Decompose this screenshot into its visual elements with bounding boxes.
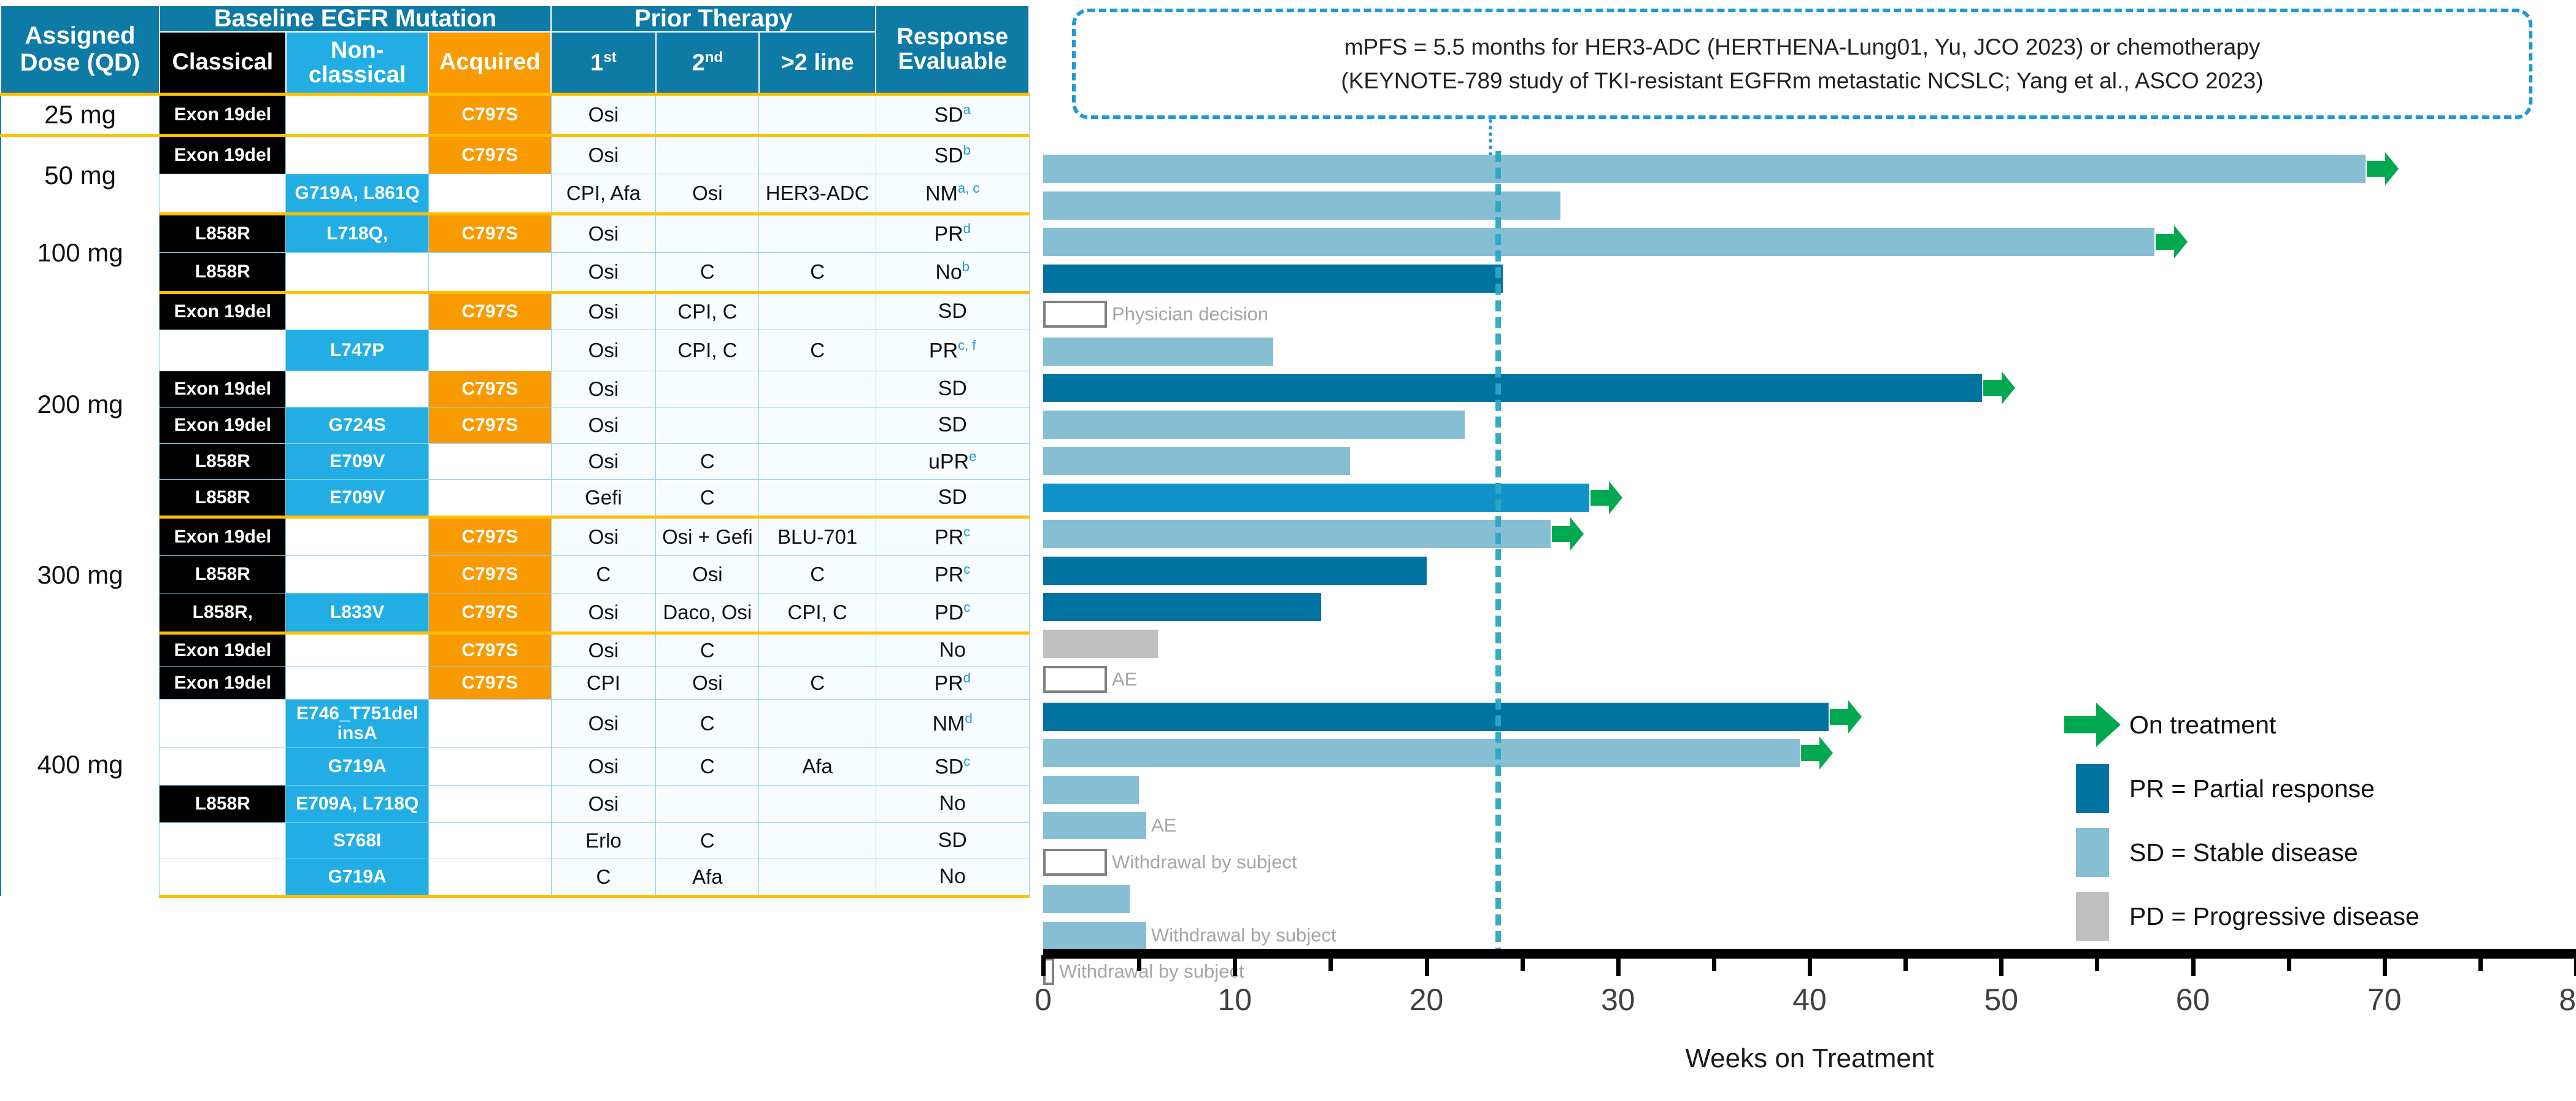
- discontinuation-annotation: Withdrawal by subject: [1043, 849, 1297, 876]
- sd-swatch: [2056, 828, 2129, 877]
- cell-classical: [160, 330, 286, 371]
- treatment-duration-bar: [1043, 447, 1350, 475]
- cell-classical: L858R: [160, 555, 286, 593]
- cell-first-line: Osi: [551, 748, 656, 785]
- swimmer-plot: mPFS = 5.5 months for HER3-ADC (HERTHENA…: [1006, 0, 2576, 1101]
- cell-more-lines: [759, 479, 876, 517]
- cell-acquired: [428, 699, 551, 748]
- x-axis-tick-label: 70: [2367, 982, 2402, 1018]
- pr-swatch: [2056, 764, 2129, 813]
- x-axis-tick-label: 60: [2176, 982, 2210, 1018]
- table-row: 50 mgExon 19delC797SOsiSDb: [1, 135, 1029, 174]
- legend-label: PD = Progressive disease: [2129, 902, 2420, 931]
- cell-second-line: [656, 785, 759, 822]
- cell-second-line: Osi: [656, 555, 759, 593]
- cell-acquired: C797S: [428, 214, 551, 252]
- x-axis-tick-label: 20: [1409, 982, 1444, 1018]
- treatment-duration-bar: [1043, 593, 1321, 621]
- cell-nonclassical: E709A, L718Q: [286, 785, 428, 822]
- cell-acquired: [428, 443, 551, 479]
- legend-label: On treatment: [2129, 711, 2276, 740]
- on-treatment-arrow-icon: [2156, 225, 2188, 258]
- cell-first-line: Gefi: [551, 479, 656, 517]
- cell-nonclassical: [286, 252, 428, 292]
- cell-acquired: C797S: [428, 371, 551, 407]
- on-treatment-arrow-icon: [1552, 517, 1584, 550]
- cell-more-lines: Afa: [759, 748, 876, 785]
- header-second-line: 2nd: [656, 32, 759, 95]
- cell-more-lines: [759, 407, 876, 443]
- cell-second-line: C: [656, 252, 759, 292]
- header-classical: Classical: [160, 32, 286, 95]
- cell-nonclassical: L833V: [286, 593, 428, 633]
- discontinuation-annotation: Withdrawal by subject: [1043, 922, 1336, 949]
- cell-nonclassical: G719A, L861Q: [286, 174, 428, 214]
- cell-nonclassical: E746_T751delinsA: [286, 699, 428, 748]
- cell-more-lines: [759, 214, 876, 252]
- x-axis-minor-tick: [2287, 955, 2291, 971]
- cell-more-lines: CPI, C: [759, 593, 876, 633]
- cell-more-lines: [759, 785, 876, 822]
- x-axis-tick: [1999, 955, 2003, 976]
- cell-acquired: C797S: [428, 555, 551, 593]
- cell-second-line: Osi: [656, 174, 759, 214]
- cell-first-line: Osi: [551, 94, 656, 135]
- x-axis-tick: [1041, 955, 1046, 976]
- x-axis-tick-label: 10: [1217, 982, 1252, 1018]
- cell-nonclassical: [286, 666, 428, 699]
- x-axis-minor-tick: [1137, 955, 1141, 971]
- table-row: 25 mgExon 19delC797SOsiSDa: [1, 94, 1029, 135]
- cell-second-line: [656, 135, 759, 174]
- cell-second-line: C: [656, 479, 759, 517]
- cell-acquired: C797S: [428, 593, 551, 633]
- cell-first-line: Erlo: [551, 822, 656, 859]
- cell-second-line: [656, 214, 759, 252]
- cell-first-line: Osi: [551, 443, 656, 479]
- cell-nonclassical: [286, 292, 428, 330]
- header-first-line: 1st: [551, 32, 656, 95]
- cell-second-line: CPI, C: [656, 292, 759, 330]
- dose-label: 400 mg: [1, 633, 160, 896]
- x-axis-tick: [2383, 955, 2387, 976]
- on-treatment-arrow-icon: [1801, 736, 1833, 770]
- dose-label: 300 mg: [1, 517, 160, 633]
- cell-acquired: C797S: [428, 633, 551, 666]
- cell-acquired: C797S: [428, 407, 551, 443]
- cell-second-line: Osi: [656, 666, 759, 699]
- cell-more-lines: [759, 443, 876, 479]
- cell-more-lines: [759, 94, 876, 135]
- x-axis-tick: [1808, 955, 1812, 976]
- mpfs-reference-line: [1495, 151, 1501, 959]
- cell-first-line: C: [551, 859, 656, 896]
- treatment-duration-bar: [1043, 265, 1503, 293]
- table-row: 100 mgL858RL718Q,C797SOsiPRd: [1, 214, 1029, 252]
- cell-first-line: Osi: [551, 785, 656, 822]
- table-row: 400 mgExon 19delC797SOsiCNo: [1, 633, 1029, 666]
- cell-classical: L858R: [160, 214, 286, 252]
- cell-acquired: C797S: [428, 135, 551, 174]
- swimmer-table: AssignedDose (QD)Baseline EGFR MutationP…: [0, 5, 1030, 898]
- cell-classical: [160, 859, 286, 896]
- cell-first-line: Osi: [551, 135, 656, 174]
- legend-item: PR = Partial response: [2056, 763, 2559, 814]
- cell-classical: [160, 699, 286, 748]
- annotation-swatch: [1043, 666, 1107, 693]
- cell-second-line: C: [656, 748, 759, 785]
- cell-acquired: [428, 822, 551, 859]
- cell-more-lines: [759, 292, 876, 330]
- legend-label: SD = Stable disease: [2129, 838, 2358, 867]
- x-axis-minor-tick: [1328, 955, 1333, 971]
- cell-nonclassical: L747P: [286, 330, 428, 371]
- cell-acquired: C797S: [428, 666, 551, 699]
- treatment-duration-bar: [1043, 155, 2366, 183]
- cell-classical: Exon 19del: [160, 94, 286, 135]
- cell-more-lines: C: [759, 555, 876, 593]
- x-axis-tick-label: 80: [2559, 982, 2576, 1018]
- cell-first-line: Osi: [551, 292, 656, 330]
- legend-item: PD = Progressive disease: [2056, 891, 2559, 941]
- cell-more-lines: [759, 822, 876, 859]
- on-treatment-arrow-icon: [1830, 700, 1862, 733]
- treatment-duration-bar: [1043, 776, 1139, 804]
- cell-first-line: Osi: [551, 214, 656, 252]
- treatment-duration-bar: [1043, 338, 1273, 366]
- header-more-lines: >2 line: [759, 32, 876, 95]
- x-axis-label: Weeks on Treatment: [1043, 1043, 2576, 1074]
- cell-nonclassical: [286, 371, 428, 407]
- cell-classical: L858R: [160, 785, 286, 822]
- cell-second-line: CPI, C: [656, 330, 759, 371]
- cell-acquired: C797S: [428, 94, 551, 135]
- annotation-swatch: [1043, 922, 1146, 949]
- cell-classical: Exon 19del: [160, 633, 286, 666]
- cell-classical: L858R: [160, 443, 286, 479]
- cell-nonclassical: G719A: [286, 859, 428, 896]
- legend-item: On treatment: [2056, 700, 2559, 750]
- legend-item: SD = Stable disease: [2056, 827, 2559, 878]
- cell-second-line: C: [656, 822, 759, 859]
- cell-more-lines: [759, 859, 876, 896]
- cell-more-lines: [759, 633, 876, 666]
- x-axis-tick: [2191, 955, 2196, 976]
- cell-classical: Exon 19del: [160, 135, 286, 174]
- on-treatment-arrow-icon: [1983, 371, 2015, 404]
- cell-first-line: Osi: [551, 252, 656, 292]
- header-nonclassical: Non-classical: [286, 32, 428, 95]
- cell-classical: Exon 19del: [160, 292, 286, 330]
- cell-nonclassical: L718Q,: [286, 214, 428, 252]
- pd-swatch: [2056, 892, 2129, 941]
- cell-more-lines: [759, 699, 876, 748]
- cell-acquired: [428, 785, 551, 822]
- mpfs-callout-stem: [1489, 119, 1492, 156]
- cell-first-line: Osi: [551, 407, 656, 443]
- cell-acquired: C797S: [428, 517, 551, 555]
- cell-classical: Exon 19del: [160, 407, 286, 443]
- cell-first-line: Osi: [551, 330, 656, 371]
- cell-first-line: Osi: [551, 371, 656, 407]
- cell-more-lines: C: [759, 666, 876, 699]
- cell-nonclassical: E709V: [286, 443, 428, 479]
- cell-acquired: [428, 479, 551, 517]
- cell-first-line: C: [551, 555, 656, 593]
- treatment-duration-bar: [1043, 484, 1589, 512]
- cell-second-line: Osi + Gefi: [656, 517, 759, 555]
- cell-more-lines: [759, 371, 876, 407]
- annotation-label: Withdrawal by subject: [1151, 924, 1336, 946]
- x-axis-tick: [1425, 955, 1429, 976]
- x-axis-minor-tick: [1712, 955, 1716, 971]
- x-axis-tick-label: 0: [1035, 982, 1052, 1018]
- discontinuation-annotation: Physician decision: [1043, 301, 1268, 328]
- mpfs-callout-line1: mPFS = 5.5 months for HER3-ADC (HERTHENA…: [1341, 30, 2263, 64]
- on-treatment-arrow-icon: [2367, 152, 2399, 185]
- discontinuation-annotation: AE: [1043, 812, 1176, 839]
- treatment-duration-bar: [1043, 557, 1427, 585]
- x-axis-minor-tick: [1521, 955, 1525, 971]
- cell-classical: Exon 19del: [160, 371, 286, 407]
- treatment-duration-bar: [1043, 520, 1551, 548]
- treatment-duration-bar: [1043, 630, 1158, 658]
- dose-label: 100 mg: [1, 214, 160, 292]
- cell-classical: L858R: [160, 479, 286, 517]
- mpfs-callout-text: mPFS = 5.5 months for HER3-ADC (HERTHENA…: [1325, 30, 2279, 98]
- x-axis-minor-tick: [2478, 955, 2483, 971]
- annotation-swatch: [1043, 849, 1107, 876]
- treatment-duration-bar: [1043, 703, 1829, 731]
- table-row: 300 mgExon 19delC797SOsiOsi + GefiBLU-70…: [1, 517, 1029, 555]
- cell-nonclassical: [286, 555, 428, 593]
- cell-acquired: C797S: [428, 292, 551, 330]
- treatment-duration-bar: [1043, 228, 2154, 256]
- treatment-duration-bar: [1043, 885, 1130, 913]
- cell-more-lines: C: [759, 330, 876, 371]
- cell-classical: [160, 174, 286, 214]
- cell-nonclassical: E709V: [286, 479, 428, 517]
- chart-legend: On treatmentPR = Partial responseSD = St…: [2056, 700, 2559, 955]
- annotation-label: AE: [1151, 814, 1176, 836]
- dose-label: 25 mg: [1, 94, 160, 135]
- cell-second-line: [656, 94, 759, 135]
- treatment-duration-bar: [1043, 374, 1982, 402]
- cell-nonclassical: [286, 94, 428, 135]
- cell-nonclassical: [286, 135, 428, 174]
- cell-more-lines: [759, 135, 876, 174]
- cell-acquired: [428, 748, 551, 785]
- annotation-label: Physician decision: [1112, 303, 1268, 325]
- cell-nonclassical: [286, 633, 428, 666]
- cell-second-line: C: [656, 633, 759, 666]
- cell-acquired: [428, 252, 551, 292]
- cell-nonclassical: G719A: [286, 748, 428, 785]
- treatment-duration-bar: [1043, 411, 1465, 439]
- mpfs-callout-box: mPFS = 5.5 months for HER3-ADC (HERTHENA…: [1072, 9, 2532, 119]
- x-axis-tick-label: 40: [1792, 982, 1827, 1018]
- cell-nonclassical: G724S: [286, 407, 428, 443]
- cell-second-line: [656, 407, 759, 443]
- cell-classical: L858R: [160, 252, 286, 292]
- cell-second-line: Daco, Osi: [656, 593, 759, 633]
- cell-second-line: Afa: [656, 859, 759, 896]
- discontinuation-annotation: AE: [1043, 666, 1137, 693]
- cell-first-line: CPI: [551, 666, 656, 699]
- x-axis-tick: [1616, 955, 1621, 976]
- cell-acquired: [428, 330, 551, 371]
- annotation-label: Withdrawal by subject: [1112, 851, 1297, 873]
- cell-nonclassical: S768I: [286, 822, 428, 859]
- cell-nonclassical: [286, 517, 428, 555]
- table-row: 200 mgExon 19delC797SOsiCPI, CSD: [1, 292, 1029, 330]
- annotation-swatch: [1043, 812, 1146, 839]
- x-axis-minor-tick: [1903, 955, 1908, 971]
- dose-label: 200 mg: [1, 292, 160, 517]
- x-axis-minor-tick: [2095, 955, 2099, 971]
- patient-characteristics-table: AssignedDose (QD)Baseline EGFR MutationP…: [0, 5, 1030, 964]
- x-axis-tick-label: 30: [1601, 982, 1635, 1018]
- cell-acquired: [428, 859, 551, 896]
- dose-label: 50 mg: [1, 135, 160, 214]
- cell-classical: Exon 19del: [160, 517, 286, 555]
- cell-first-line: CPI, Afa: [551, 174, 656, 214]
- cell-first-line: Osi: [551, 517, 656, 555]
- treatment-duration-bar: [1043, 739, 1800, 767]
- mpfs-callout-line2: (KEYNOTE-789 study of TKI-resistant EGFR…: [1341, 64, 2263, 98]
- discontinuation-annotation: Withdrawal by subject: [1043, 958, 1244, 985]
- x-axis-tick: [1233, 955, 1237, 976]
- on-treatment-arrow-icon: [1591, 481, 1622, 514]
- header-assigned-dose: AssignedDose (QD): [1, 6, 160, 94]
- cell-second-line: [656, 371, 759, 407]
- annotation-swatch: [1043, 301, 1107, 328]
- cell-more-lines: BLU-701: [759, 517, 876, 555]
- treatment-duration-bar: [1043, 191, 1560, 220]
- cell-second-line: C: [656, 699, 759, 748]
- header-baseline-egfr: Baseline EGFR Mutation: [160, 6, 551, 32]
- cell-first-line: Osi: [551, 633, 656, 666]
- header-acquired: Acquired: [428, 32, 551, 95]
- on-treatment-arrow-icon: [2056, 703, 2129, 747]
- cell-first-line: Osi: [551, 593, 656, 633]
- header-prior-therapy: Prior Therapy: [551, 6, 876, 32]
- cell-more-lines: C: [759, 252, 876, 292]
- x-axis-tick-label: 50: [1984, 982, 2018, 1018]
- annotation-label: AE: [1112, 668, 1137, 690]
- cell-second-line: C: [656, 443, 759, 479]
- cell-classical: [160, 748, 286, 785]
- legend-label: PR = Partial response: [2129, 775, 2375, 803]
- cell-classical: L858R,: [160, 593, 286, 633]
- cell-classical: [160, 822, 286, 859]
- cell-classical: Exon 19del: [160, 666, 286, 699]
- cell-more-lines: HER3-ADC: [759, 174, 876, 214]
- cell-first-line: Osi: [551, 699, 656, 748]
- cell-acquired: [428, 174, 551, 214]
- annotation-label: Withdrawal by subject: [1059, 960, 1244, 983]
